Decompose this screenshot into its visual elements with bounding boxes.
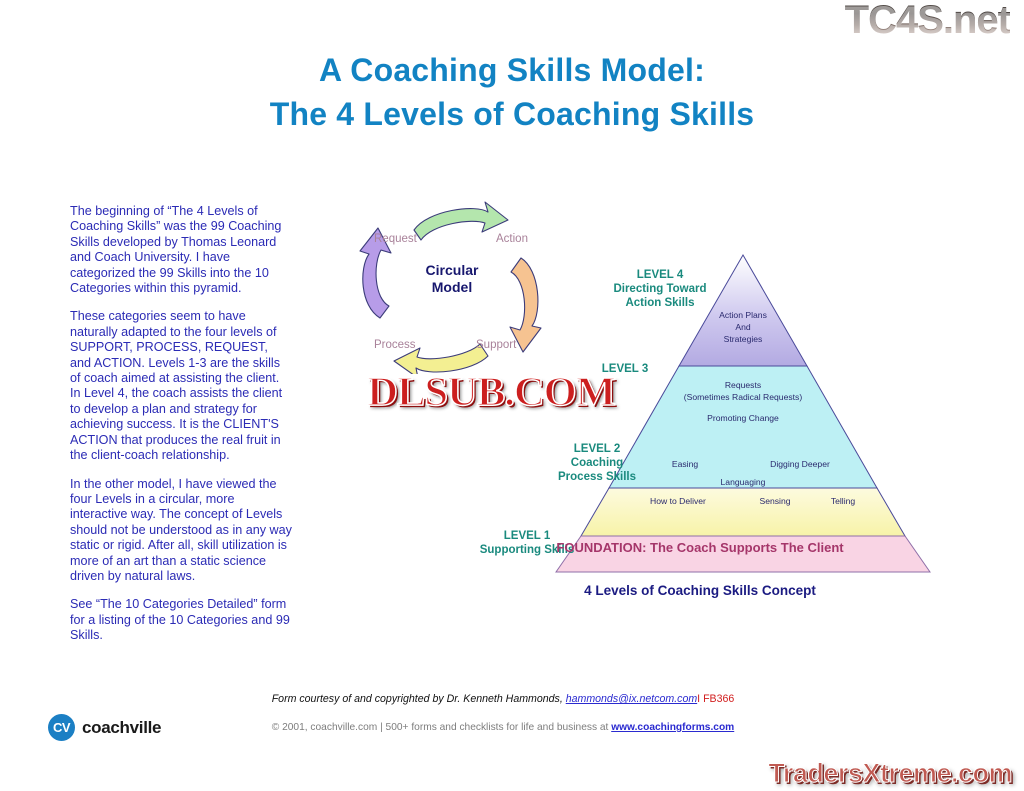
poster-page: TC4S.net A Coaching Skills Model: The 4 … bbox=[0, 0, 1024, 791]
pyramid-level-2-label: LEVEL 2 Coaching Process Skills bbox=[532, 442, 662, 484]
pyramid-band4-action-plans: Action Plans bbox=[693, 309, 793, 321]
pyramid-diagram: LEVEL 4 Directing Toward Action Skills L… bbox=[440, 248, 960, 608]
title-line-2: The 4 Levels of Coaching Skills bbox=[0, 92, 1024, 136]
footer-courtesy-text: Form courtesy of and copyrighted by Dr. … bbox=[272, 693, 566, 705]
footer-form-code: FB366 bbox=[703, 693, 734, 705]
circular-label-process: Process bbox=[374, 339, 416, 351]
pyramid-level-2-label-line3: Process Skills bbox=[558, 471, 636, 483]
pyramid-band3-sometimes-radical: (Sometimes Radical Requests) bbox=[633, 391, 853, 403]
tc4s-watermark: TC4S.net bbox=[845, 0, 1010, 43]
pyramid-band2-sensing: Sensing bbox=[740, 495, 810, 507]
pyramid-band3-requests: Requests bbox=[663, 379, 823, 391]
title-line-1: A Coaching Skills Model: bbox=[319, 52, 705, 88]
pyramid-band4-strategies: Strategies bbox=[693, 333, 793, 345]
footer-email-link[interactable]: hammonds@ix.netcom.com bbox=[566, 693, 697, 705]
footer-site-link[interactable]: www.coachingforms.com bbox=[611, 722, 734, 733]
page-title: A Coaching Skills Model: The 4 Levels of… bbox=[0, 48, 1024, 136]
pyramid-foundation-text: FOUNDATION: The Coach Supports The Clien… bbox=[440, 540, 960, 555]
coachville-logo[interactable]: CV coachville bbox=[48, 714, 161, 741]
circular-label-action: Action bbox=[496, 233, 528, 245]
pyramid-level-4-label: LEVEL 4 Directing Toward Action Skills bbox=[595, 268, 725, 310]
pyramid-band2-digging-deeper: Digging Deeper bbox=[745, 458, 855, 470]
narrative-column: The beginning of “The 4 Levels of Coachi… bbox=[70, 204, 292, 657]
pyramid-band3-promoting-change: Promoting Change bbox=[663, 412, 823, 424]
pyramid-caption: 4 Levels of Coaching Skills Concept bbox=[440, 583, 960, 598]
pyramid-band2-languaging: Languaging bbox=[683, 476, 803, 488]
narrative-paragraph-4: See “The 10 Categories Detailed” form fo… bbox=[70, 597, 292, 643]
circular-label-request: Request bbox=[374, 233, 417, 245]
narrative-paragraph-1: The beginning of “The 4 Levels of Coachi… bbox=[70, 204, 292, 296]
dlsub-watermark: DLSUB.COM bbox=[367, 367, 615, 415]
pyramid-level-2-label-line2: Coaching bbox=[571, 457, 623, 469]
pyramid-band2-how-to-deliver: How to Deliver bbox=[623, 495, 733, 507]
pyramid-level-4-label-line2: Directing Toward bbox=[613, 283, 706, 295]
narrative-paragraph-3: In the other model, I have viewed the fo… bbox=[70, 477, 292, 585]
tradersxtreme-watermark: TradersXtreme.com bbox=[768, 758, 1012, 789]
narrative-paragraph-2: These categories seem to have naturally … bbox=[70, 309, 292, 463]
pyramid-band4-and: And bbox=[693, 321, 793, 333]
pyramid-band2-easing: Easing bbox=[650, 458, 720, 470]
pyramid-level-4-label-line3: Action Skills bbox=[625, 297, 694, 309]
pyramid-level-2-label-line1: LEVEL 2 bbox=[574, 443, 620, 455]
footer-copyright-text: © 2001, coachville.com | 500+ forms and … bbox=[272, 722, 611, 733]
pyramid-level-4-label-line1: LEVEL 4 bbox=[637, 269, 683, 281]
footer-courtesy-line: Form courtesy of and copyrighted by Dr. … bbox=[0, 693, 1006, 705]
coachville-badge-icon: CV bbox=[48, 714, 75, 741]
coachville-wordmark: coachville bbox=[82, 718, 161, 738]
pyramid-band2-telling: Telling bbox=[813, 495, 873, 507]
circular-arrow-top-icon bbox=[414, 202, 508, 240]
